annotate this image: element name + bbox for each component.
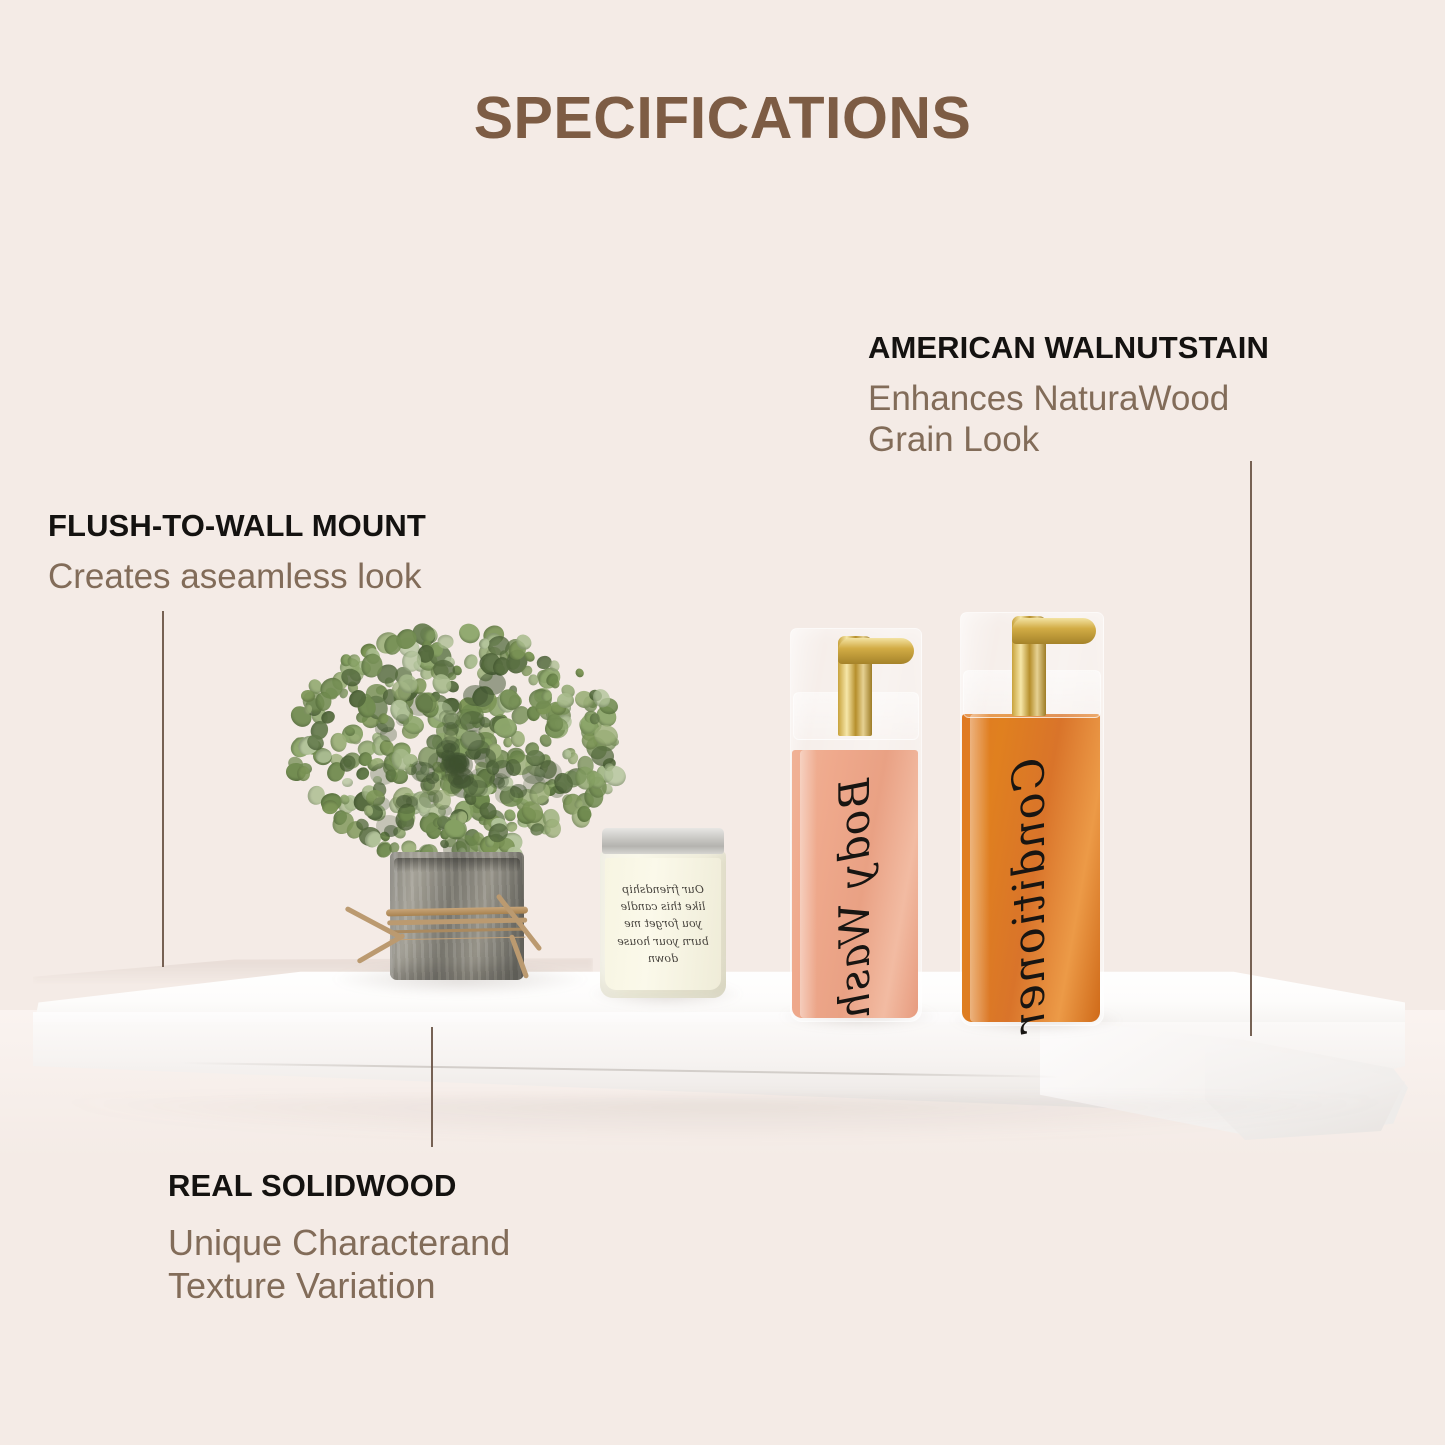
- plant-leaf-shadow: [406, 692, 433, 715]
- plant-foliage: [286, 620, 626, 882]
- plant-leaf: [342, 778, 353, 788]
- callout-american-walnut-stain: AMERICAN WALNUTSTAIN Enhances NaturaWood…: [868, 330, 1269, 461]
- callout-heading: REAL SOLIDWOOD: [168, 1168, 510, 1204]
- leader-line-flush-to-wall: [162, 611, 164, 967]
- plant-leaf: [574, 667, 586, 679]
- candle-label-line: burn your house down: [607, 933, 719, 967]
- plant-leaf-shadow: [495, 786, 516, 803]
- candle-label-line: you forget me: [607, 915, 719, 932]
- plant-leaf-shadow: [442, 713, 461, 729]
- plant-leaf: [543, 817, 563, 839]
- potted-eucalyptus-plant: [286, 620, 626, 980]
- plant-leaf: [363, 805, 374, 817]
- plant-leaf-shadow: [522, 765, 545, 784]
- infographic-canvas: SPECIFICATIONS Our friendship like this …: [0, 0, 1445, 1445]
- conditioner-dispenser: Conditioner: [960, 612, 1102, 1024]
- leader-line-walnut-stain: [1250, 461, 1252, 1036]
- candle-label-line: Our friendship: [607, 881, 719, 898]
- conditioner-label-text: Conditioner: [1004, 758, 1055, 1033]
- shelf-drop-shadow: [60, 1098, 1390, 1140]
- leader-line-solid-wood: [431, 1027, 433, 1147]
- liquid-highlight: [800, 750, 818, 1018]
- plant-leaf: [557, 693, 574, 708]
- plant-leaf: [297, 766, 310, 781]
- body-wash-dispenser: Body Wash: [790, 628, 920, 1020]
- candle-label-line: like this candle: [607, 898, 719, 915]
- scented-candle-jar: Our friendship like this candle you forg…: [598, 828, 728, 998]
- plant-leaf-shadow: [468, 740, 491, 759]
- plant-leaf: [437, 634, 453, 648]
- callout-heading: AMERICAN WALNUTSTAIN: [868, 330, 1269, 366]
- callout-flush-to-wall-mount: FLUSH-TO-WALL MOUNT Creates aseamless lo…: [48, 508, 426, 598]
- plant-leaf-shadow: [428, 790, 443, 802]
- plant-leaf-shadow: [550, 786, 564, 798]
- plant-leaf-shadow: [438, 805, 452, 817]
- plant-leaf-shadow: [373, 797, 390, 811]
- callout-real-solid-wood: REAL SOLIDWOOD Unique Characterand Textu…: [168, 1168, 510, 1307]
- page-title: SPECIFICATIONS: [0, 84, 1445, 152]
- body-wash-label-text: Body Wash: [830, 778, 879, 1020]
- plant-leaf-shadow: [396, 714, 410, 726]
- callout-body-line: Grain Look: [868, 420, 1269, 461]
- body-wash-pump-nozzle: [838, 638, 914, 664]
- liquid-highlight: [970, 714, 989, 1022]
- plant-pot-texture: [390, 852, 524, 980]
- callout-body-line: Texture Variation: [168, 1264, 510, 1307]
- plant-leaf-shadow: [426, 772, 439, 783]
- plant-leaf-shadow: [384, 825, 398, 837]
- candle-metal-lid: [602, 828, 724, 854]
- callout-heading: FLUSH-TO-WALL MOUNT: [48, 508, 426, 544]
- plant-leaf-shadow: [445, 763, 470, 784]
- callout-body: Creates aseamless look: [48, 557, 426, 598]
- callout-body-line: Enhances NaturaWood: [868, 379, 1269, 420]
- conditioner-pump-nozzle: [1012, 618, 1096, 644]
- plant-leaf: [562, 749, 571, 759]
- callout-body: Unique Characterand Texture Variation: [168, 1221, 510, 1307]
- plant-leaf-shadow: [441, 736, 460, 752]
- callout-body: Enhances NaturaWood Grain Look: [868, 379, 1269, 461]
- candle-label: Our friendship like this candle you forg…: [607, 874, 719, 974]
- callout-body-line: Unique Characterand: [168, 1221, 510, 1264]
- plant-leaf-shadow: [375, 723, 388, 734]
- plant-leaf-shadow: [411, 761, 427, 775]
- plant-leaf: [529, 675, 539, 686]
